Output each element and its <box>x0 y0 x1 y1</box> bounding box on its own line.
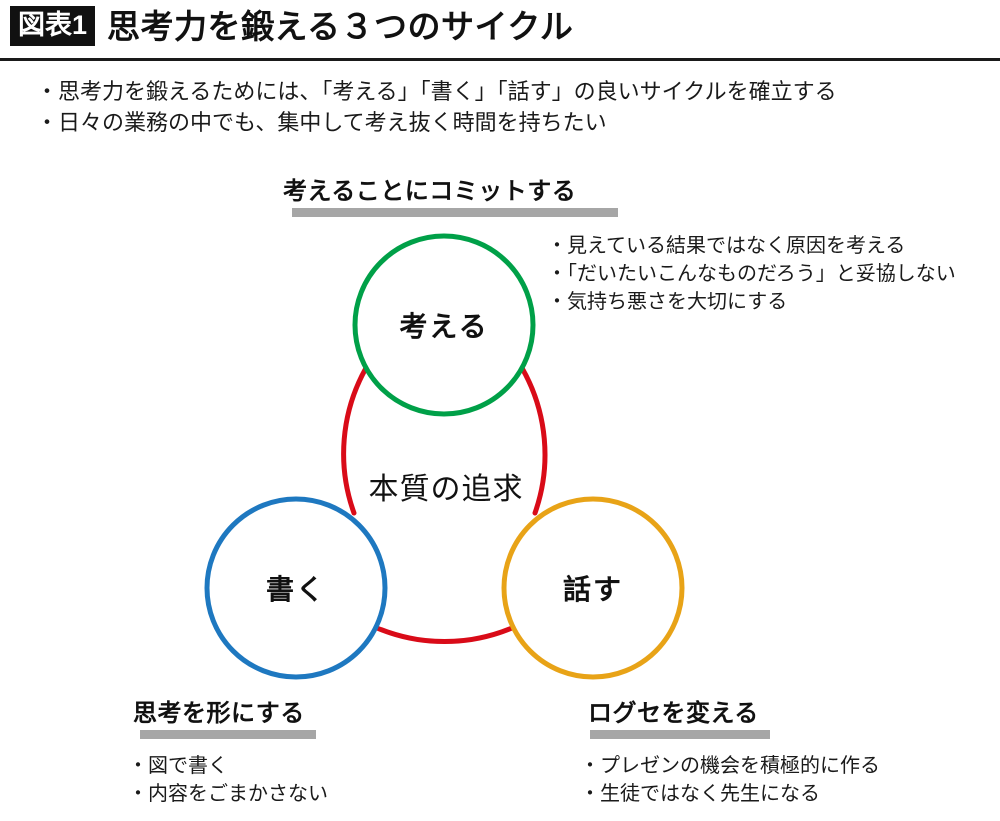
diagram-center-label: 本質の追求 <box>369 464 524 508</box>
node-label-think: 考える <box>399 305 488 345</box>
arc-write-to-think <box>344 368 366 513</box>
node-label-speak: 話す <box>563 568 623 608</box>
section-heading-left-underline <box>140 730 316 739</box>
bullet-item: ・気持ち悪さを大切にする <box>547 288 956 316</box>
figure-number-badge: 図表1 <box>10 6 95 46</box>
lead-bullets: ・思考力を鍛えるためには、「考える」「書く」「話す」の良いサイクルを確立する ・… <box>36 76 986 138</box>
section-bullets-top: ・見えている結果ではなく原因を考える ・「だいたいこんなものだろう」と妥協しない… <box>547 232 956 316</box>
bullet-item: ・見えている結果ではなく原因を考える <box>547 232 956 260</box>
node-label-write: 書く <box>266 568 326 608</box>
section-heading-top: 考えることにコミットする <box>283 178 618 217</box>
page-title-row: 図表1 思考力を鍛える３つのサイクル <box>10 6 573 46</box>
bullet-item: ・プレゼンの機会を積極的に作る <box>580 752 880 780</box>
section-heading-left: 思考を形にする <box>133 700 316 739</box>
section-heading-top-underline <box>292 208 618 217</box>
bullet-item: ・内容をごまかさない <box>128 780 328 808</box>
page-title: 思考力を鍛える３つのサイクル <box>107 10 573 43</box>
section-bullets-right: ・プレゼンの機会を積極的に作る ・生徒ではなく先生になる <box>580 752 880 808</box>
arc-speak-to-write <box>377 628 512 642</box>
section-heading-top-text: 考えることにコミットする <box>283 178 618 206</box>
bullet-item: ・「だいたいこんなものだろう」と妥協しない <box>547 260 956 288</box>
section-heading-left-text: 思考を形にする <box>133 700 316 728</box>
section-bullets-left: ・図で書く ・内容をごまかさない <box>128 752 328 808</box>
section-heading-right-text: ログセを変える <box>588 700 770 728</box>
header-divider <box>0 58 1000 61</box>
lead-line: ・日々の業務の中でも、集中して考え抜く時間を持ちたい <box>36 107 986 138</box>
arc-think-to-speak <box>522 368 545 513</box>
bullet-item: ・図で書く <box>128 752 328 780</box>
lead-line: ・思考力を鍛えるためには、「考える」「書く」「話す」の良いサイクルを確立する <box>36 76 986 107</box>
section-heading-right: ログセを変える <box>588 700 770 739</box>
bullet-item: ・生徒ではなく先生になる <box>580 780 880 808</box>
section-heading-right-underline <box>590 730 770 739</box>
